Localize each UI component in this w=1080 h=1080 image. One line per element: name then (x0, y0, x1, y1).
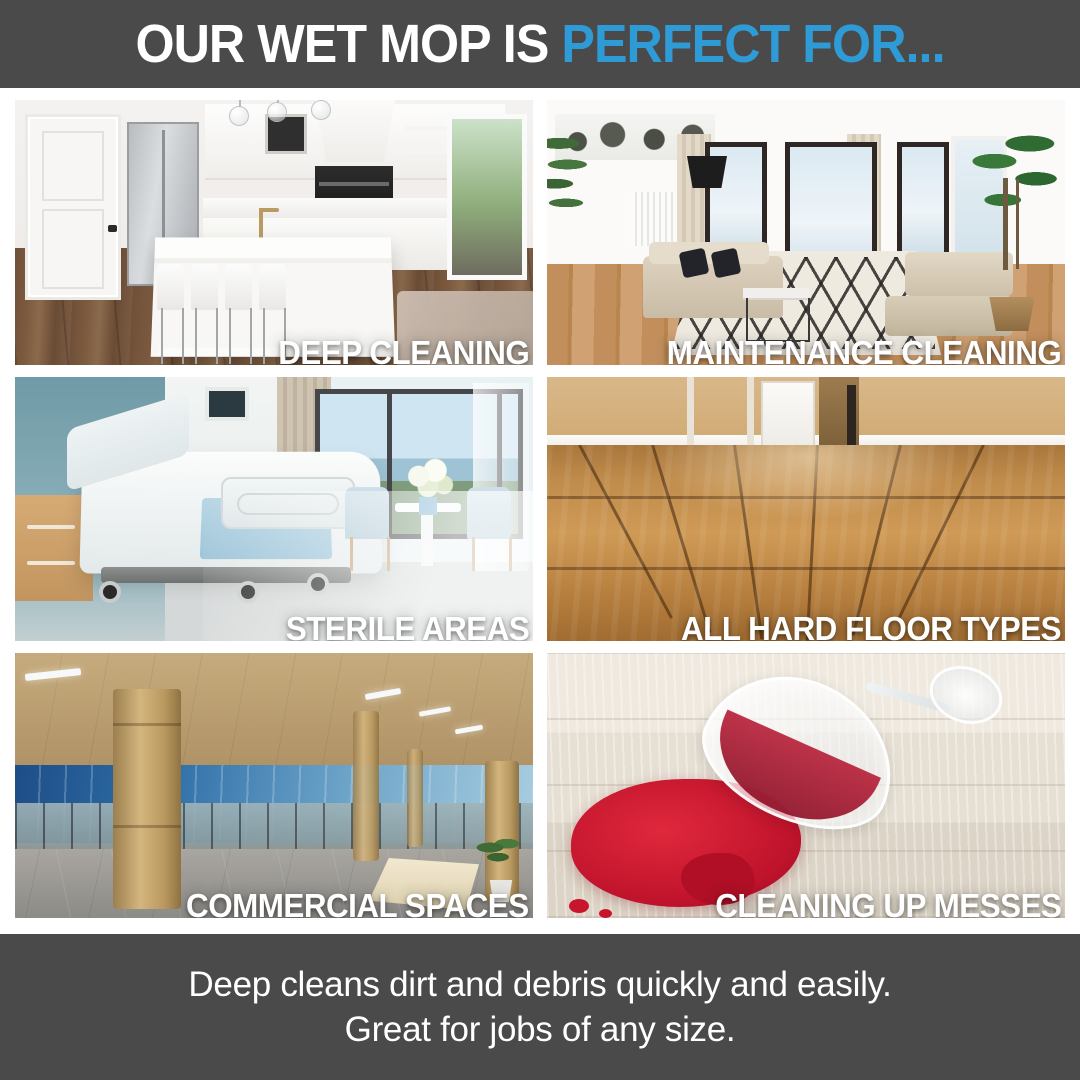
patient-monitor (205, 387, 249, 421)
living-room-photo (547, 100, 1065, 365)
header-bar: OUR WET MOP IS PERFECT FOR... (0, 0, 1080, 88)
footer-bar: Deep cleans dirt and debris quickly and … (0, 934, 1080, 1080)
kitchen-door (25, 114, 121, 300)
throw-pillow (679, 248, 710, 279)
concrete-column (407, 749, 423, 847)
grid-cell-maintenance-cleaning: MAINTENANCE CLEANING (547, 100, 1065, 365)
feature-image-grid: DEEP CLEANING (15, 100, 1065, 918)
hospital-room-photo (15, 377, 533, 641)
wine-spill-photo (547, 653, 1065, 918)
potted-palm-tree (957, 126, 1061, 302)
grid-cell-commercial-spaces: COMMERCIAL SPACES (15, 653, 533, 918)
kitchen-bar-stools (157, 264, 287, 365)
door-post (847, 385, 856, 449)
white-door (761, 381, 815, 447)
pendant-light (229, 106, 249, 126)
bar-stool (259, 264, 286, 310)
kitchen-photo (15, 100, 533, 365)
floor-lamp (687, 156, 727, 188)
bed-caster-wheel (99, 581, 121, 603)
concrete-column (353, 711, 379, 861)
infographic-page: OUR WET MOP IS PERFECT FOR... (0, 0, 1080, 1080)
bar-stool (191, 264, 218, 310)
cell-caption: STERILE AREAS (286, 612, 529, 641)
kitchen-faucet (259, 208, 263, 238)
footer-line-1: Deep cleans dirt and debris quickly and … (188, 962, 891, 1008)
grid-cell-sterile-areas: STERILE AREAS (15, 377, 533, 641)
door-knob-icon (108, 225, 117, 232)
kitchen-window (447, 114, 527, 280)
bar-stool (225, 264, 252, 310)
concrete-column (113, 689, 181, 909)
grid-cell-deep-cleaning: DEEP CLEANING (15, 100, 533, 365)
flower-vase (419, 497, 437, 515)
page-title-white-part: OUR WET MOP IS (135, 14, 561, 74)
throw-pillow (711, 248, 742, 279)
radiator (631, 192, 675, 246)
page-title: OUR WET MOP IS PERFECT FOR... (135, 17, 944, 71)
visitor-chair (467, 487, 511, 539)
cell-caption: CLEANING UP MESSES (715, 889, 1061, 918)
concrete-ceiling (15, 653, 533, 765)
cell-caption: ALL HARD FLOOR TYPES (681, 612, 1061, 641)
window-right (897, 142, 949, 260)
cell-caption: COMMERCIAL SPACES (186, 889, 529, 918)
lobby-plant (475, 836, 525, 884)
visitor-chair (345, 487, 389, 539)
cell-caption: MAINTENANCE CLEANING (666, 336, 1061, 365)
foreground-plant (547, 128, 601, 224)
hardwood-floor-photo (547, 377, 1065, 641)
bed-side-rail (221, 477, 355, 529)
commercial-lobby-photo (15, 653, 533, 918)
cell-caption: DEEP CLEANING (278, 336, 529, 365)
bed-caster-wheel (237, 581, 259, 603)
footer-line-2: Great for jobs of any size. (345, 1007, 736, 1053)
bed-caster-wheel (307, 573, 329, 595)
wine-droplet (599, 909, 612, 918)
bar-stool (157, 264, 184, 310)
grid-cell-cleaning-up-messes: CLEANING UP MESSES (547, 653, 1065, 918)
coffee-table (743, 288, 809, 298)
wall-trim (687, 377, 694, 451)
page-title-blue-part: PERFECT FOR... (561, 14, 944, 74)
pendant-light (311, 100, 331, 120)
grid-cell-all-hard-floor-types: ALL HARD FLOOR TYPES (547, 377, 1065, 641)
pendant-light (267, 102, 287, 122)
wine-droplet (569, 899, 589, 913)
